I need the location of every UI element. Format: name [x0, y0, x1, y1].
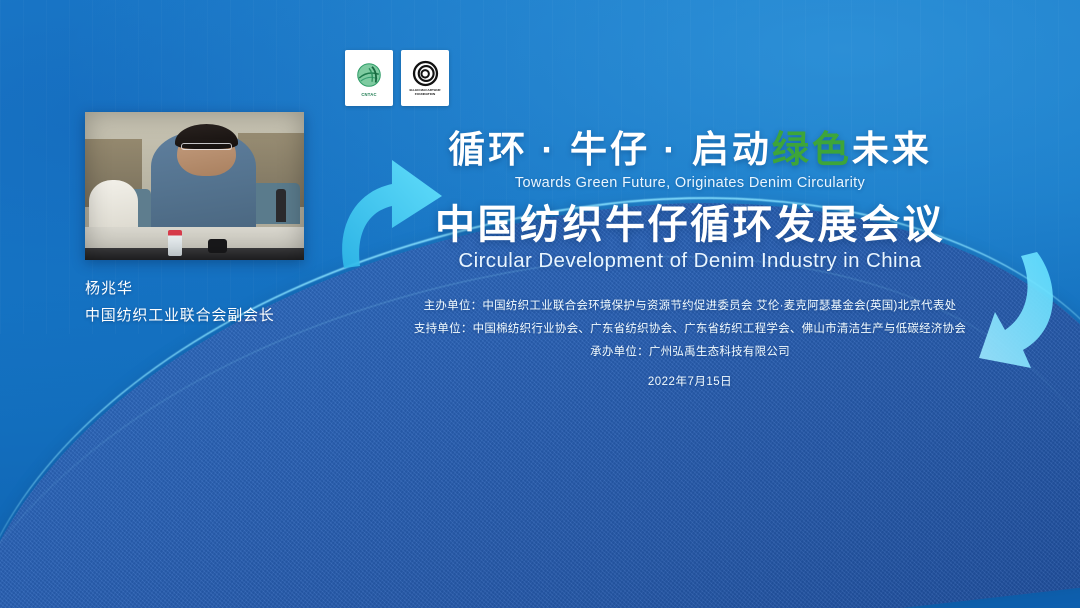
- ellen-macarthur-foundation-logo: ELLEN MACARTHUR FOUNDATION: [401, 50, 449, 106]
- bokeh-dot: [905, 452, 927, 474]
- cntac-logo: CNTAC: [345, 50, 393, 106]
- page-title-english: Circular Development of Denim Industry i…: [340, 249, 1040, 273]
- bokeh-dot: [1038, 470, 1047, 483]
- emf-logo-caption: ELLEN MACARTHUR FOUNDATION: [405, 89, 445, 96]
- bokeh-dot: [795, 432, 806, 443]
- slide-center-content: 循环 · 牛仔 · 启动绿色未来 Towards Green Future, O…: [340, 128, 1040, 389]
- event-date: 2022年7月15日: [340, 373, 1040, 389]
- slogan-green-word: 绿色: [772, 129, 852, 170]
- page-title: 中国纺织牛仔循环发展会议: [340, 202, 1040, 248]
- presentation-slide: CNTAC ELLEN MACARTHUR FOUNDATION: [0, 0, 1080, 608]
- speaker-name: 杨兆华: [85, 277, 304, 298]
- logo-bar: CNTAC ELLEN MACARTHUR FOUNDATION: [345, 50, 449, 106]
- slogan: 循环 · 牛仔 · 启动绿色未来: [340, 128, 1040, 172]
- speaker-panel: 杨兆华 中国纺织工业联合会副会长: [85, 112, 304, 325]
- slogan-part2: 未来: [852, 129, 932, 170]
- slogan-part1: 循环 · 牛仔 · 启动: [448, 129, 772, 170]
- video-vignette: [85, 112, 304, 260]
- green-circular-emblem-icon: [354, 60, 384, 90]
- slogan-english: Towards Green Future, Originates Denim C…: [340, 175, 1040, 191]
- speaker-title: 中国纺织工业联合会副会长: [85, 304, 304, 325]
- organizer-list: 主办单位：中国纺织工业联合会环境保护与资源节约促进委员会 艾伦·麦克阿瑟基金会(…: [340, 295, 1040, 364]
- black-concentric-rings-icon: [412, 60, 439, 87]
- organizer-line: 主办单位：中国纺织工业联合会环境保护与资源节约促进委员会 艾伦·麦克阿瑟基金会(…: [340, 295, 1040, 318]
- cntac-logo-caption: CNTAC: [361, 92, 376, 97]
- bokeh-dot: [978, 420, 986, 428]
- organizer-line: 承办单位：广州弘禹生态科技有限公司: [340, 341, 1040, 364]
- bokeh-dot: [760, 470, 767, 477]
- bokeh-dot: [690, 448, 706, 464]
- organizer-line: 支持单位：中国棉纺织行业协会、广东省纺织协会、广东省纺织工程学会、佛山市清洁生产…: [340, 318, 1040, 341]
- speaker-video-feed[interactable]: [85, 112, 304, 260]
